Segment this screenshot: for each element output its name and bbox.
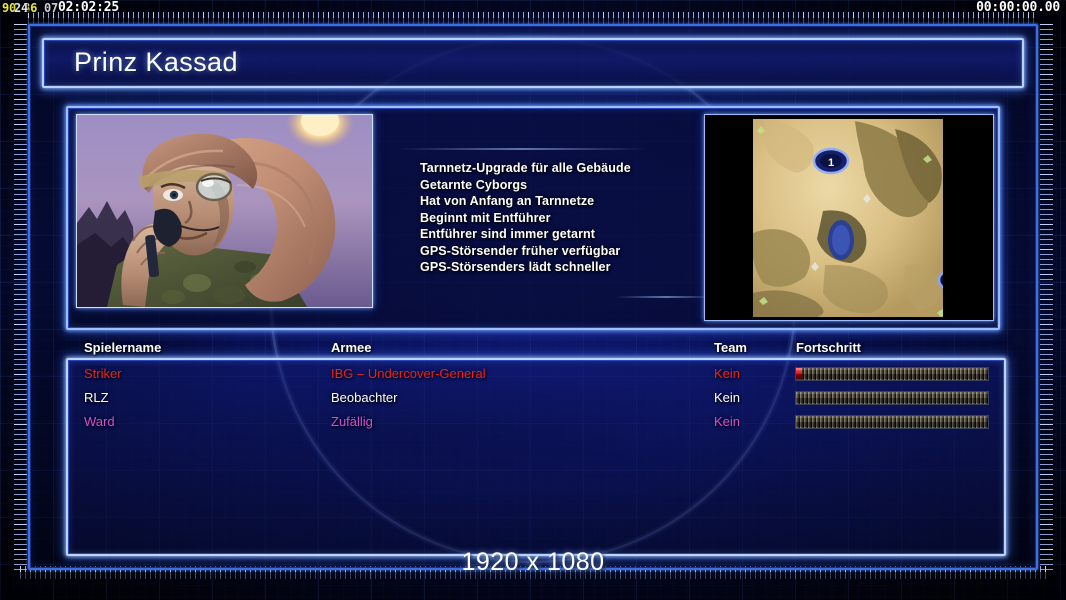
status-elapsed-time: 02:02:25	[58, 0, 119, 16]
progress-bar-sheen	[796, 368, 988, 380]
top-status-bar: 90 36 24 07 02:02:25 00:00:00.00	[0, 0, 1066, 16]
player-name: RLZ	[84, 386, 109, 410]
player-table-header: Spielername Armee Team Fortschritt	[66, 340, 1006, 360]
player-team[interactable]: Kein	[714, 362, 740, 386]
bullet-separator-bottom	[616, 296, 716, 298]
map-preview-image: 1	[705, 115, 993, 320]
status-overlay-b: 24	[14, 0, 28, 16]
ability-item: Getarnte Cyborgs	[420, 177, 682, 194]
table-row[interactable]: Striker IBG – Undercover-General Kein	[66, 362, 1006, 386]
column-header-name: Spielername	[84, 340, 161, 355]
status-timer: 00:00:00.00	[976, 0, 1060, 16]
column-header-army: Armee	[331, 340, 371, 355]
player-rows: Striker IBG – Undercover-General Kein RL…	[66, 362, 1006, 434]
progress-bar-sheen	[796, 392, 988, 404]
progress-bar	[795, 415, 989, 429]
player-army[interactable]: Beobachter	[331, 386, 398, 410]
progress-bar-sheen	[796, 416, 988, 428]
status-overlay-c: 07	[44, 0, 58, 16]
player-name: Striker	[84, 362, 122, 386]
ability-item: Entführer sind immer getarnt	[420, 226, 682, 243]
column-header-team: Team	[714, 340, 747, 355]
progress-bar	[795, 391, 989, 405]
progress-bar	[795, 367, 989, 381]
general-portrait-image	[77, 115, 372, 307]
table-row[interactable]: RLZ Beobachter Kein	[66, 386, 1006, 410]
player-team[interactable]: Kein	[714, 410, 740, 434]
general-ability-list: Tarnnetz-Upgrade für alle Gebäude Getarn…	[420, 160, 682, 276]
map-start-position-label: 1	[828, 157, 834, 169]
page-title: Prinz Kassad	[74, 47, 238, 78]
resolution-label: 1920 x 1080	[0, 548, 1066, 577]
ability-item: GPS-Störsender früher verfügbar	[420, 243, 682, 260]
ability-item: Hat von Anfang an Tarnnetze	[420, 193, 682, 210]
map-preview[interactable]: 1	[704, 114, 994, 321]
bullet-separator-top	[398, 148, 646, 150]
ability-item: Beginnt mit Entführer	[420, 210, 682, 227]
player-name: Ward	[84, 410, 115, 434]
player-team[interactable]: Kein	[714, 386, 740, 410]
ability-item: Tarnnetz-Upgrade für alle Gebäude	[420, 160, 682, 177]
player-army[interactable]: Zufällig	[331, 410, 373, 434]
table-row[interactable]: Ward Zufällig Kein	[66, 410, 1006, 434]
ability-item: GPS-Störsenders lädt schneller	[420, 259, 682, 276]
column-header-progress: Fortschritt	[796, 340, 861, 355]
general-portrait	[76, 114, 373, 308]
player-army[interactable]: IBG – Undercover-General	[331, 362, 486, 386]
